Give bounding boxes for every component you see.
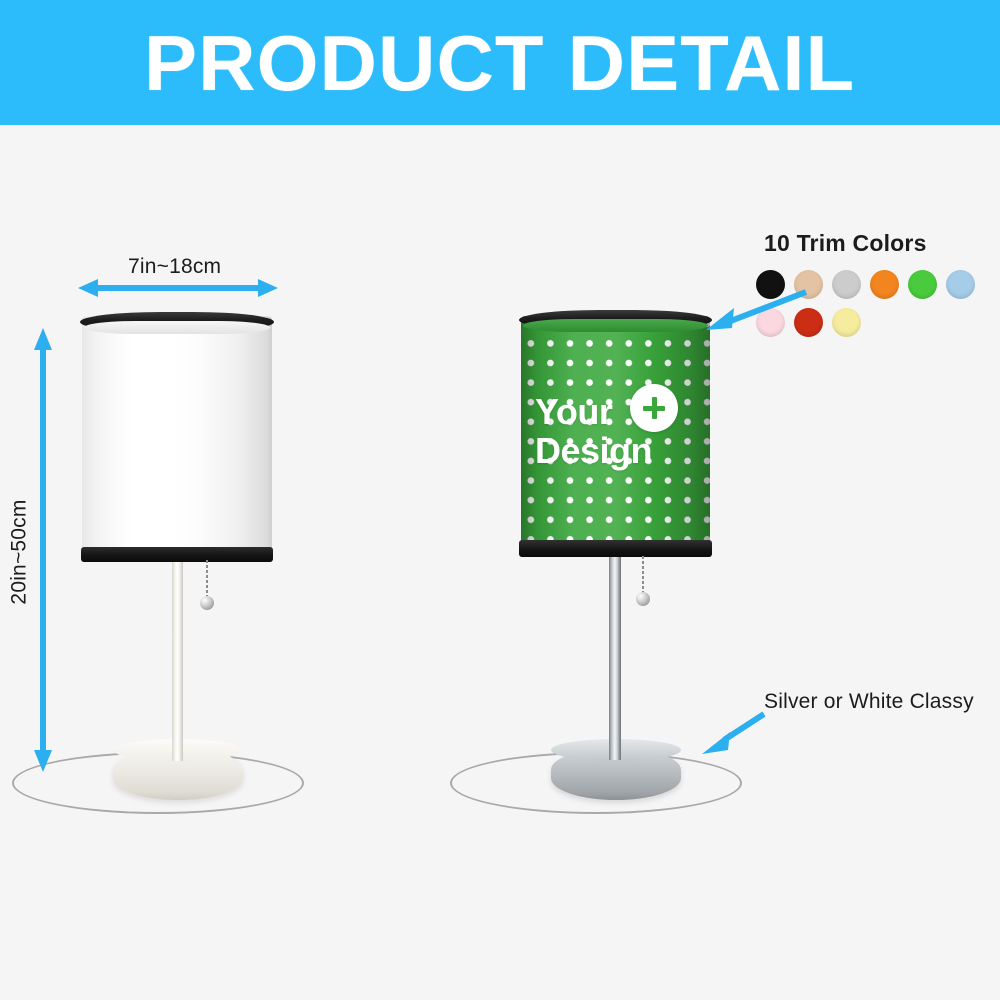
base-finish-callout-arrow bbox=[700, 708, 768, 756]
page-title: PRODUCT DETAIL bbox=[144, 24, 855, 102]
height-dimension-label: 20in~50cm bbox=[8, 499, 32, 604]
green-lamp-bottom-trim bbox=[519, 540, 712, 557]
design-line-1: Your bbox=[535, 392, 710, 431]
green-lamp-top-trim bbox=[519, 310, 712, 330]
white-lamp-pull-chain bbox=[206, 560, 208, 600]
plus-icon bbox=[630, 384, 678, 432]
design-line-2: Design bbox=[535, 431, 710, 470]
header-banner: PRODUCT DETAIL bbox=[0, 0, 1000, 125]
white-lamp-top-trim bbox=[80, 312, 274, 332]
swatch-light-blue[interactable] bbox=[946, 270, 975, 299]
base-finish-label: Silver or White Classy bbox=[764, 690, 974, 714]
product-detail-page: PRODUCT DETAIL Your Design 7in~18 bbox=[0, 0, 1000, 1000]
width-dimension-arrow bbox=[78, 276, 278, 300]
height-dimension-arrow bbox=[32, 328, 54, 772]
green-lamp-shade: Your Design bbox=[521, 316, 710, 546]
white-lamp-pole bbox=[172, 556, 183, 761]
swatch-orange[interactable] bbox=[870, 270, 899, 299]
white-lamp-bottom-trim bbox=[81, 547, 273, 562]
green-lamp-pole bbox=[609, 552, 621, 760]
green-lamp-chain-ball bbox=[636, 592, 650, 606]
swatch-yellow[interactable] bbox=[832, 308, 861, 337]
green-lamp-pull-chain bbox=[642, 556, 644, 596]
white-lamp-shade bbox=[82, 316, 272, 558]
trim-color-callout-arrow bbox=[700, 286, 812, 338]
white-lamp-chain-ball bbox=[200, 596, 214, 610]
design-placeholder-text: Your Design bbox=[521, 316, 710, 546]
swatch-green[interactable] bbox=[908, 270, 937, 299]
swatch-gray[interactable] bbox=[832, 270, 861, 299]
trim-colors-title: 10 Trim Colors bbox=[764, 230, 927, 257]
